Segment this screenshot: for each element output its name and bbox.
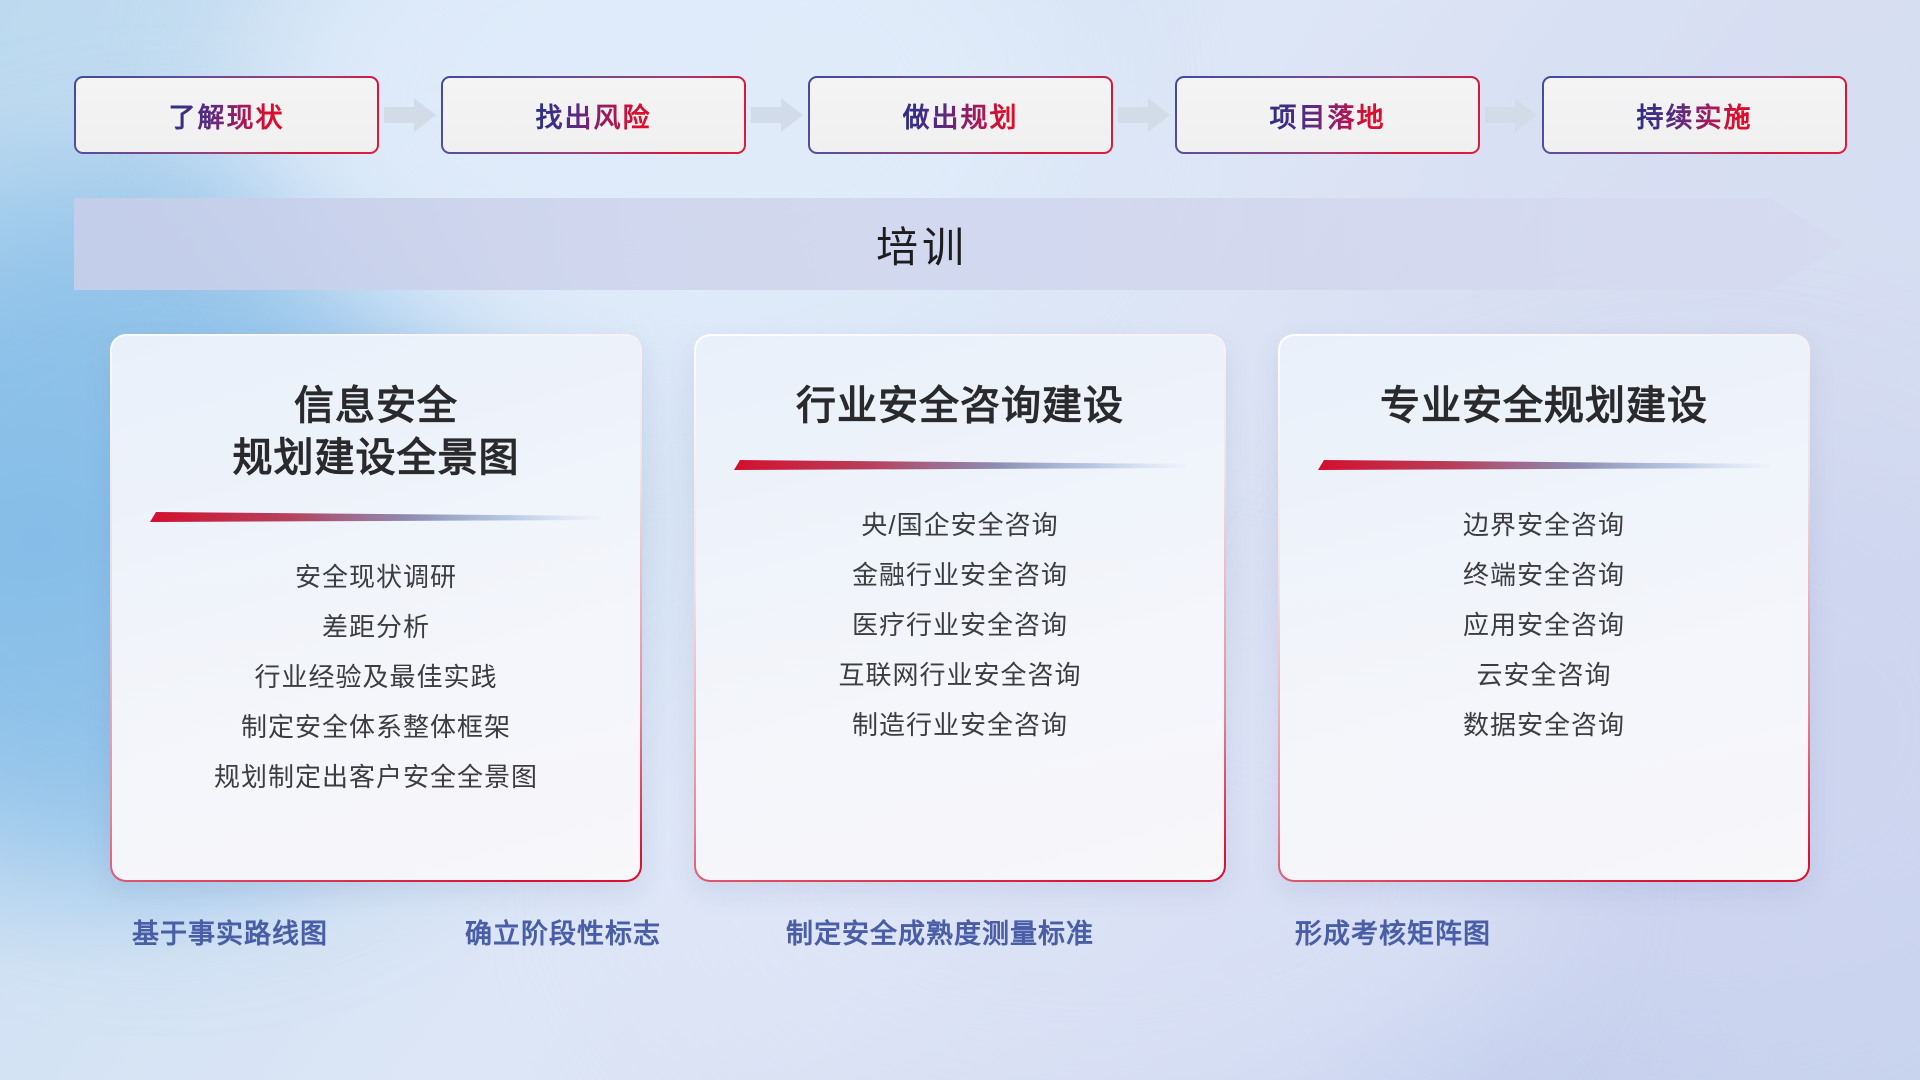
list-item: 行业经验及最佳实践 bbox=[254, 652, 497, 702]
list-item: 制定安全体系整体框架 bbox=[241, 702, 511, 752]
step-box-3[interactable]: 项目落地 bbox=[1175, 76, 1480, 154]
card-1[interactable]: 行业安全咨询建设 bbox=[694, 334, 1226, 882]
step-box-1[interactable]: 找出风险 bbox=[441, 76, 746, 154]
card-inner-1: 行业安全咨询建设 bbox=[696, 336, 1224, 880]
list-item: 差距分析 bbox=[322, 602, 430, 652]
step-inner-0: 了解现状 bbox=[76, 78, 377, 152]
card-divider-2 bbox=[1318, 458, 1770, 474]
footnote-0: 基于事实路线图 bbox=[132, 912, 328, 951]
step-arrow-icon-1 bbox=[746, 95, 808, 135]
slide-canvas: 了解现状 找出风险 做出规划 bbox=[0, 0, 1920, 1080]
card-inner-2: 专业安全规划建设 bbox=[1280, 336, 1808, 880]
step-wrapper-3: 项目落地 bbox=[1175, 76, 1480, 154]
step-inner-1: 找出风险 bbox=[443, 78, 744, 152]
step-arrow-icon-3 bbox=[1480, 95, 1542, 135]
list-item: 金融行业安全咨询 bbox=[852, 550, 1068, 600]
step-box-2[interactable]: 做出规划 bbox=[808, 76, 1113, 154]
step-label-3: 项目落地 bbox=[1270, 96, 1386, 135]
list-item: 应用安全咨询 bbox=[1463, 600, 1625, 650]
card-group: 信息安全 规划建设全景图 bbox=[110, 334, 1810, 882]
step-wrapper-1: 找出风险 bbox=[441, 76, 746, 154]
footnote-1: 确立阶段性标志 bbox=[465, 912, 661, 951]
step-wrapper-0: 了解现状 bbox=[74, 76, 379, 154]
step-label-2: 做出规划 bbox=[903, 96, 1019, 135]
training-banner: 培训 bbox=[74, 198, 1846, 290]
step-box-0[interactable]: 了解现状 bbox=[74, 76, 379, 154]
footnote-3: 形成考核矩阵图 bbox=[1295, 912, 1491, 951]
footnote-row: 基于事实路线图 确立阶段性标志 制定安全成熟度测量标准 形成考核矩阵图 bbox=[0, 912, 1920, 972]
card-list-0: 安全现状调研 差距分析 行业经验及最佳实践 制定安全体系整体框架 规划制定出客户… bbox=[112, 552, 640, 802]
card-inner-0: 信息安全 规划建设全景图 bbox=[112, 336, 640, 880]
card-divider-0 bbox=[150, 510, 602, 526]
list-item: 互联网行业安全咨询 bbox=[838, 650, 1081, 700]
list-item: 数据安全咨询 bbox=[1463, 700, 1625, 750]
step-arrow-icon-0 bbox=[379, 95, 441, 135]
background-blob-top bbox=[250, 0, 1070, 380]
list-item: 央/国企安全咨询 bbox=[861, 500, 1058, 550]
list-item: 制造行业安全咨询 bbox=[852, 700, 1068, 750]
step-inner-4: 持续实施 bbox=[1544, 78, 1845, 152]
card-2[interactable]: 专业安全规划建设 bbox=[1278, 334, 1810, 882]
list-item: 规划制定出客户安全全景图 bbox=[214, 752, 538, 802]
step-arrow-icon-2 bbox=[1113, 95, 1175, 135]
card-list-1: 央/国企安全咨询 金融行业安全咨询 医疗行业安全咨询 互联网行业安全咨询 制造行… bbox=[696, 500, 1224, 750]
step-label-0: 了解现状 bbox=[169, 96, 285, 135]
card-title-2: 专业安全规划建设 bbox=[1360, 380, 1728, 432]
card-title-0: 信息安全 规划建设全景图 bbox=[213, 380, 540, 484]
list-item: 终端安全咨询 bbox=[1463, 550, 1625, 600]
process-step-bar: 了解现状 找出风险 做出规划 bbox=[74, 76, 1846, 154]
step-box-4[interactable]: 持续实施 bbox=[1542, 76, 1847, 154]
list-item: 安全现状调研 bbox=[295, 552, 457, 602]
list-item: 边界安全咨询 bbox=[1463, 500, 1625, 550]
step-wrapper-2: 做出规划 bbox=[808, 76, 1113, 154]
list-item: 云安全咨询 bbox=[1476, 650, 1611, 700]
banner-title: 培训 bbox=[74, 198, 1846, 290]
footnote-2: 制定安全成熟度测量标准 bbox=[786, 912, 1094, 951]
step-inner-3: 项目落地 bbox=[1177, 78, 1478, 152]
step-inner-2: 做出规划 bbox=[810, 78, 1111, 152]
step-label-4: 持续实施 bbox=[1637, 96, 1753, 135]
step-wrapper-4: 持续实施 bbox=[1542, 76, 1847, 154]
card-0[interactable]: 信息安全 规划建设全景图 bbox=[110, 334, 642, 882]
card-divider-1 bbox=[734, 458, 1186, 474]
card-list-2: 边界安全咨询 终端安全咨询 应用安全咨询 云安全咨询 数据安全咨询 bbox=[1280, 500, 1808, 750]
step-label-1: 找出风险 bbox=[536, 96, 652, 135]
card-title-1: 行业安全咨询建设 bbox=[776, 380, 1144, 432]
list-item: 医疗行业安全咨询 bbox=[852, 600, 1068, 650]
